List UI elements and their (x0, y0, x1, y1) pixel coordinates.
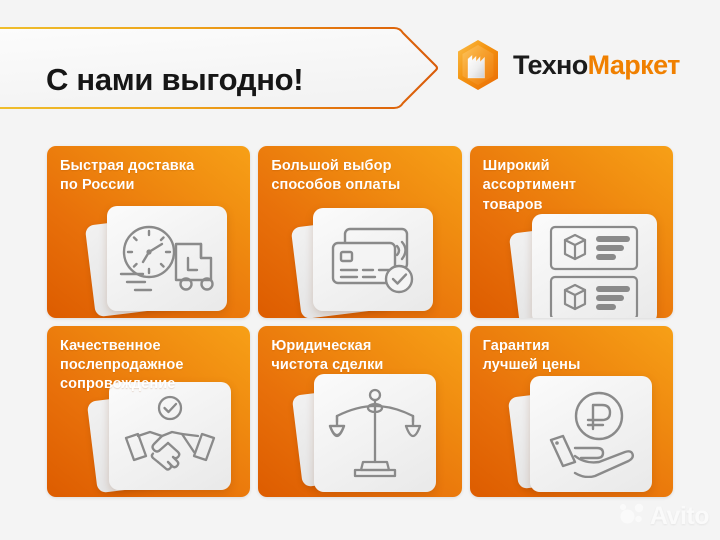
card-support-title: Качественное послепродажное сопровождени… (60, 337, 240, 395)
page-title: С нами выгодно! (46, 62, 303, 98)
avito-watermark: Avito (620, 502, 709, 531)
brand-name-part2: Маркет (588, 50, 680, 80)
avito-dots-icon (620, 503, 646, 530)
card-legal[interactable]: Юридическая чистота сделки (258, 326, 461, 498)
brand-name-part1: Техно (513, 50, 588, 80)
card-delivery[interactable]: Быстрая доставка по России (47, 146, 250, 318)
handshake-check-icon (120, 394, 220, 478)
card-delivery-title: Быстрая доставка по России (60, 157, 240, 196)
brand-logo-text: ТехноМаркет (513, 50, 680, 81)
icon-tile-front (314, 374, 436, 492)
icon-tile-front (532, 214, 657, 318)
card-price-title: Гарантия лучшей цены (483, 337, 663, 376)
benefits-grid: Быстрая доставка по России (47, 146, 673, 497)
header: С нами выгодно! (0, 0, 720, 130)
hexagon-building-logo-icon (452, 38, 504, 92)
credit-card-check-icon (323, 221, 423, 299)
product-list-boxes-icon (543, 221, 645, 317)
avito-watermark-text: Avito (650, 502, 709, 531)
icon-tile-front (107, 206, 227, 311)
banner-chevron: С нами выгодно! (0, 22, 444, 114)
card-payment[interactable]: Большой выбор способов оплаты (258, 146, 461, 318)
card-assortment[interactable]: Широкий ассортимент товаров (470, 146, 673, 318)
card-support[interactable]: Качественное послепродажное сопровождени… (47, 326, 250, 498)
card-legal-title: Юридическая чистота сделки (271, 337, 451, 376)
card-assortment-title: Широкий ассортимент товаров (483, 157, 663, 215)
card-payment-title: Большой выбор способов оплаты (271, 157, 451, 196)
scales-of-justice-icon (327, 386, 423, 480)
hand-ruble-coin-icon (541, 390, 641, 478)
icon-tile-front (313, 208, 433, 311)
clock-truck-icon (113, 218, 221, 300)
icon-tile-front (109, 382, 231, 490)
brand-logo[interactable]: ТехноМаркет (452, 38, 680, 92)
icon-tile-front (530, 376, 652, 492)
card-price[interactable]: Гарантия лучшей цены (470, 326, 673, 498)
